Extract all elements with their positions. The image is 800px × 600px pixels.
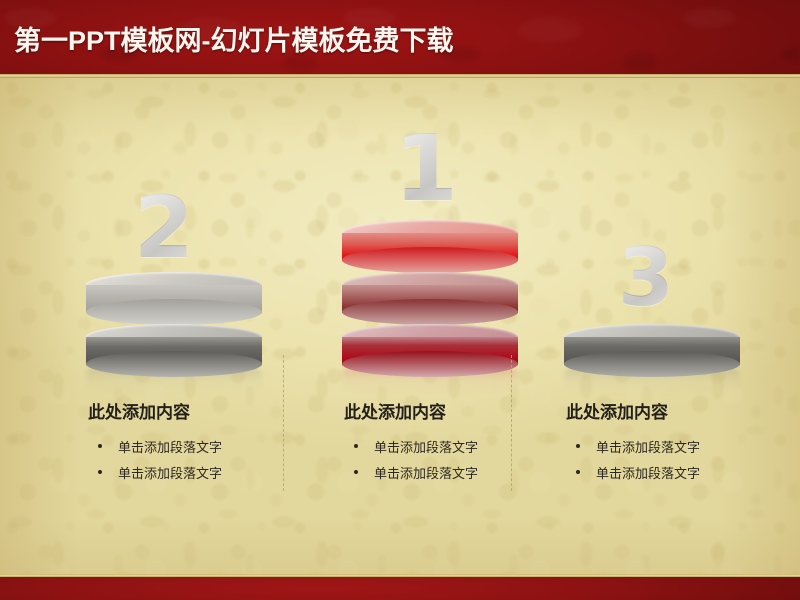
disc-bottom-rim	[342, 247, 518, 273]
list-item[interactable]: 单击添加段落文字	[316, 463, 544, 482]
list-item[interactable]: 单击添加段落文字	[538, 437, 766, 456]
text-block-2: 此处添加内容 单击添加段落文字 单击添加段落文字	[60, 398, 288, 489]
disc-2-2[interactable]	[86, 324, 262, 370]
list-item[interactable]: 单击添加段落文字	[60, 437, 288, 456]
stack-zone-2: 2	[60, 140, 288, 370]
column-heading-2[interactable]: 此处添加内容	[88, 398, 288, 423]
disc-bottom-rim	[86, 351, 262, 377]
column-heading-3[interactable]: 此处添加内容	[566, 398, 766, 423]
list-item[interactable]: 单击添加段落文字	[60, 463, 288, 482]
list-item[interactable]: 单击添加段落文字	[316, 437, 544, 456]
banner-gold-rule	[0, 74, 800, 78]
numeral-2: 2	[134, 192, 194, 265]
footer-band	[0, 577, 800, 600]
disc-bottom-rim	[342, 351, 518, 377]
disc-bottom-rim	[86, 299, 262, 325]
disc-stack-2	[86, 266, 262, 370]
disc-stack-3	[564, 318, 740, 370]
disc-3-1[interactable]	[564, 324, 740, 370]
disc-2-1[interactable]	[86, 272, 262, 318]
column-divider-2	[511, 355, 512, 491]
numeral-1: 1	[394, 130, 458, 208]
page-title: 第一PPT模板网-幻灯片模板免费下载	[14, 19, 454, 58]
disc-stack-1	[342, 214, 518, 370]
disc-bottom-rim	[342, 299, 518, 325]
slide-canvas: 第一PPT模板网-幻灯片模板免费下载 2 此处添加内容	[0, 0, 800, 600]
disc-bottom-rim	[564, 351, 740, 377]
text-block-3: 此处添加内容 单击添加段落文字 单击添加段落文字	[538, 398, 766, 489]
disc-1-3[interactable]	[342, 324, 518, 370]
text-block-1: 此处添加内容 单击添加段落文字 单击添加段落文字	[316, 398, 544, 489]
list-item[interactable]: 单击添加段落文字	[538, 463, 766, 482]
disc-1-1[interactable]	[342, 220, 518, 266]
stack-zone-1: 1	[316, 140, 544, 370]
disc-1-2[interactable]	[342, 272, 518, 318]
bullet-list-3: 单击添加段落文字 单击添加段落文字	[538, 437, 766, 482]
numeral-3: 3	[618, 244, 674, 312]
stack-zone-3: 3	[538, 140, 766, 370]
bullet-list-1: 单击添加段落文字 单击添加段落文字	[316, 437, 544, 482]
bullet-list-2: 单击添加段落文字 单击添加段落文字	[60, 437, 288, 482]
column-divider-1	[283, 355, 284, 491]
column-heading-1[interactable]: 此处添加内容	[344, 398, 544, 423]
